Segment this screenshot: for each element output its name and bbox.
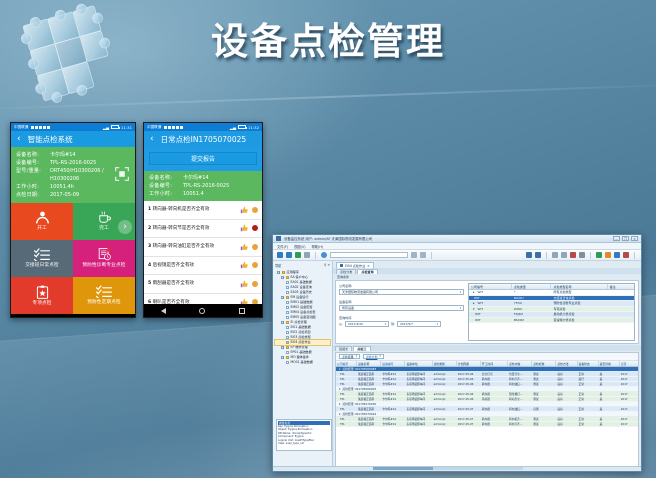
table-row[interactable]: WIT BSXDX 变速箱大修点检 xyxy=(469,318,634,324)
device-select[interactable]: 所有设备▾ xyxy=(339,305,464,311)
query-panel: 公司名称: 天津国际物流发展有限公司▾ 设备名称: 所有设备▾ 查询时间 从: … xyxy=(335,280,639,344)
table-row[interactable]: TPL集装箱正面吊卡尔玛#14东货场装卸车间admin/pl2017-05-07… xyxy=(336,422,638,427)
expand-toggle-icon[interactable]: − xyxy=(277,271,280,274)
column-header[interactable]: 公司编号 xyxy=(336,361,357,366)
tile-label: 预防性诊断专业点检 xyxy=(80,263,127,269)
checklist-text: 1 转向器-转向机是否齐全有效 xyxy=(148,206,240,213)
folder-icon xyxy=(282,271,286,274)
tile-preventive-diagnosis-inspection[interactable]: 预防性诊断专业点检 xyxy=(73,240,135,277)
doc-icon xyxy=(286,301,289,304)
thumbs-up-icon[interactable] xyxy=(240,261,248,269)
nav-back-icon[interactable] xyxy=(29,318,34,319)
tab-team-leader[interactable]: 班组长 xyxy=(335,346,352,352)
doc-icon xyxy=(286,351,289,354)
folder-icon xyxy=(286,276,290,279)
phone-screenshot-1: 中国联通 ▂▄ 11:31 ‹ 智能点检系统 设备名称: 卡尔玛#14 设备编号… xyxy=(10,122,136,318)
qr-scan-icon[interactable] xyxy=(115,167,129,181)
column-header[interactable]: 公司编号 xyxy=(469,284,512,289)
folder-icon xyxy=(286,346,290,349)
battery-icon xyxy=(111,125,119,129)
column-header[interactable]: 点检类别 xyxy=(433,361,457,366)
section-label: 查询条件 xyxy=(333,274,641,279)
tree-pin-icon[interactable]: ⚲ ✕ xyxy=(324,263,330,268)
tab-inspector[interactable]: 点检工 xyxy=(353,346,370,352)
coffee-cup-icon xyxy=(97,211,112,224)
expand-toggle-icon[interactable]: − xyxy=(281,296,284,299)
column-header[interactable]: 设备单位 xyxy=(405,361,432,366)
group-label: 点检结果: IN1705070030 xyxy=(342,402,376,406)
phone2-checklist: 1 转向器-转向机是否齐全有效 2 转向器-转向节是否齐全有效 3 转向器-转向… xyxy=(144,201,262,318)
results-panel: 点检结果▾ 点检计划▾ 公司编号 设备名称 设备编号 设备单位 点检类别 计划周… xyxy=(335,352,639,472)
column-header[interactable]: 是否异常 xyxy=(599,361,620,366)
info-label: 点检日期: xyxy=(16,191,50,199)
date-from-input[interactable]: 2017/4/30▾ xyxy=(345,321,389,327)
phone2-app-title: 日常点检IN1705070025 xyxy=(161,134,247,145)
date-to-value: 2017/5/7 xyxy=(400,322,413,326)
column-header[interactable]: 点检标准 xyxy=(532,361,556,366)
nav-recents-icon[interactable] xyxy=(111,318,117,319)
nav-recents-icon[interactable] xyxy=(239,308,245,314)
column-header[interactable]: 设备名称 xyxy=(357,361,381,366)
settings-icon[interactable] xyxy=(605,252,611,258)
field-group-date: 查询时间 从: 2017/4/30▾ 到: 2017/5/7▾ xyxy=(339,315,464,327)
phone2-app-bar: ‹ 日常点检IN1705070025 xyxy=(144,131,262,147)
phone1-nav-bar xyxy=(11,314,135,318)
search-icon[interactable] xyxy=(321,252,327,258)
expand-toggle-icon[interactable]: − xyxy=(281,276,284,279)
expand-toggle-icon[interactable]: − xyxy=(281,346,284,349)
group-label: 点检结果: IN1705070024 xyxy=(342,412,376,416)
checklist-text: 5 雨刮器是否齐全有效 xyxy=(148,280,240,287)
horizontal-scrollbar[interactable] xyxy=(373,467,523,470)
tile-finish-work[interactable]: 完工 › xyxy=(73,203,135,240)
phone2-device-info: 设备名称: 卡尔玛#14 设备编号: TPL-RS-2016-0025 工作小时… xyxy=(144,171,262,201)
thumbs-up-icon[interactable] xyxy=(240,243,248,251)
plan-filter-select[interactable]: 点检计划▾ xyxy=(363,354,384,360)
tile-start-work[interactable]: 开工 xyxy=(11,203,73,240)
copy-icon[interactable] xyxy=(552,252,558,258)
field-label: 设备名称: xyxy=(339,299,464,304)
query-form: 公司名称: 天津国际物流发展有限公司▾ 设备名称: 所有设备▾ 查询时间 从: … xyxy=(339,283,464,341)
tile-label: 预防性定期点检 xyxy=(85,300,123,306)
reload-icon[interactable] xyxy=(596,252,602,258)
info-row: 工作小时: 10051.4h xyxy=(16,183,130,191)
chevron-left-icon[interactable]: ‹ xyxy=(150,135,154,144)
tile-label: 交接班日常点检 xyxy=(23,263,61,269)
filter-row: 点检结果▾ 点检计划▾ xyxy=(336,353,638,361)
close-icon[interactable] xyxy=(623,252,629,258)
column-header[interactable]: 计划周期 xyxy=(457,361,481,366)
chevron-down-icon: ▾ xyxy=(379,355,380,358)
checklist-icon xyxy=(34,248,50,261)
thumbs-up-icon[interactable] xyxy=(240,206,248,214)
info-label: 设备编号: xyxy=(16,159,50,167)
doc-icon xyxy=(286,361,289,364)
clipboard-star-icon xyxy=(36,285,49,299)
info-value: 卡尔玛#14 xyxy=(50,151,130,159)
info-label: 工作小时: xyxy=(16,183,50,191)
inspection-results-grid[interactable]: 公司编号 设备名称 设备编号 设备单位 点检类别 计划周期 开工时间 点检内容 … xyxy=(336,361,638,472)
device-value: 所有设备 xyxy=(342,306,354,310)
info-label: 型号/重量: xyxy=(16,167,50,175)
window-title-bar: 设备监控系统 用户: admin/AF 天津国际物流发展有限公司 — ❐ ✕ xyxy=(273,235,641,243)
menu-file[interactable]: 文件(F) xyxy=(277,244,288,249)
info-row: 设备名称: 卡尔玛#14 xyxy=(149,174,257,182)
date-from-label: 从: xyxy=(339,322,343,326)
info-label: 设备名称: xyxy=(16,151,50,159)
search-input[interactable] xyxy=(330,252,408,258)
phone1-carrier: 中国联通 xyxy=(14,125,28,130)
date-to-label: 到: xyxy=(391,322,395,326)
info-value: TPL-RS-2016-0025 xyxy=(183,182,257,190)
submit-report-button[interactable]: 提交报告 xyxy=(149,152,257,165)
field-group-company: 公司名称: 天津国际物流发展有限公司▾ xyxy=(339,283,464,295)
app-icon xyxy=(276,236,281,241)
phone-screenshot-2: 中国联通 ▂▄ 11:32 ‹ 日常点检IN1705070025 提交报告 设备… xyxy=(143,122,263,318)
list-item[interactable]: 1 转向器-转向机是否齐全有效 xyxy=(144,201,262,220)
nav-home-icon[interactable] xyxy=(199,308,205,314)
phone2-time: 11:32 xyxy=(248,125,259,130)
inspection-type-grid[interactable]: 公司编号 点检类型 点检类型名称 备注 ▸WIT * 所有点检类型 WIT RI… xyxy=(468,283,635,341)
checklist-text: 7 倒车蜂鸣器是否齐全有效 xyxy=(148,317,240,318)
checklist-text: 4 后视镜是否齐全有效 xyxy=(148,262,240,269)
folder-icon xyxy=(286,356,290,359)
grid-icon[interactable] xyxy=(614,252,620,258)
filter-icon[interactable] xyxy=(411,252,417,258)
thumbs-up-icon[interactable] xyxy=(240,224,248,232)
nav-back-icon[interactable] xyxy=(161,308,166,314)
list-item[interactable]: 5 雨刮器是否齐全有效 xyxy=(144,275,262,294)
back-icon[interactable] xyxy=(277,252,283,258)
chevron-down-icon: ▾ xyxy=(460,307,461,310)
checklist-text: 2 转向器-转向节是否齐全有效 xyxy=(148,225,240,232)
info-value: 卡尔玛#14 xyxy=(183,174,257,182)
menu-bar: 文件(F) 视图(V) 帮助(H) xyxy=(273,243,641,250)
info-label: 设备名称: xyxy=(149,174,183,182)
doc-icon xyxy=(286,336,289,339)
refresh-icon[interactable] xyxy=(295,252,301,258)
folder-icon xyxy=(286,296,290,299)
navigation-tree[interactable]: 导航 ⚲ ✕ −应用程序 −EA 客户中心 EA01 基础数据 EA02 设备查… xyxy=(273,261,333,472)
info-value: TPL-RS-2016-0025 xyxy=(50,159,130,167)
chevron-down-icon: ▾ xyxy=(356,355,357,358)
signal-icon: ▂▄ xyxy=(230,125,236,130)
doc-icon xyxy=(286,291,289,294)
export-icon[interactable] xyxy=(535,252,541,258)
save-icon[interactable] xyxy=(304,252,310,258)
date-from-value: 2017/4/30 xyxy=(348,322,363,326)
doc-icon xyxy=(286,341,289,344)
doc-icon xyxy=(286,286,289,289)
tile-special-inspection[interactable]: 专项点检 xyxy=(11,277,73,314)
phone1-app-title: 智能点检系统 xyxy=(28,134,73,145)
forward-icon[interactable] xyxy=(286,252,292,258)
person-icon xyxy=(35,211,50,224)
phone1-device-info: 设备名称: 卡尔玛#14 设备编号: TPL-RS-2016-0025 型号/重… xyxy=(11,147,135,203)
property-line: View: inspl_type_ref xyxy=(278,442,330,445)
info-value: 10051.4 xyxy=(183,190,257,198)
filter-value: 点检结果 xyxy=(342,355,354,359)
field-label: 查询时间 xyxy=(339,315,464,320)
page-title: 设备点检管理 xyxy=(0,22,656,63)
group-label: 点检结果: IN1705060003 xyxy=(342,387,376,391)
close-button[interactable]: ✕ xyxy=(631,236,638,241)
info-value: 10051.4h xyxy=(50,183,130,191)
phone2-carrier: 中国联通 xyxy=(147,125,161,130)
column-header[interactable]: 点检内容 xyxy=(508,361,532,366)
info-row: 点检日期: 2017-05-09 xyxy=(16,191,130,199)
company-select[interactable]: 天津国际物流发展有限公司▾ xyxy=(339,289,464,295)
group-label: 点检结果: IN1705060083 xyxy=(342,367,376,371)
info-row: H10300206 xyxy=(16,175,130,183)
column-header[interactable]: 点检方法 xyxy=(556,361,577,366)
status-icon[interactable] xyxy=(252,207,258,213)
phone1-tile-grid: 开工 完工 › 交接班日常点检 xyxy=(11,203,135,314)
field-label: 公司名称: xyxy=(339,283,464,288)
filter-link[interactable]: 点检计划 xyxy=(366,355,378,359)
chevron-down-icon: ▾ xyxy=(437,323,438,326)
info-value: 2017-05-09 xyxy=(50,191,130,199)
folder-icon xyxy=(286,321,290,324)
column-header[interactable]: 设备编号 xyxy=(381,361,405,366)
tab-strip: EI04 点检作业 ✕ xyxy=(333,261,641,268)
info-row: 工作小时: 10051.4 xyxy=(149,190,257,198)
column-header[interactable]: 点检类型名称 xyxy=(551,284,607,289)
minimize-button[interactable]: — xyxy=(613,236,620,241)
status-icon[interactable] xyxy=(252,262,258,268)
window-body: 导航 ⚲ ✕ −应用程序 −EA 客户中心 EA01 基础数据 EA02 设备查… xyxy=(273,261,641,472)
list-item[interactable]: 3 转向器-转向油缸是否齐全有效 xyxy=(144,238,262,257)
result-filter-select[interactable]: 点检结果▾ xyxy=(339,354,360,360)
checklist-icon xyxy=(96,285,112,298)
tree-node-label: MO01 基础数据 xyxy=(291,360,313,365)
info-row: 设备编号: TPL-RS-2016-0025 xyxy=(149,182,257,190)
phone1-time: 11:31 xyxy=(121,125,132,130)
doc-icon xyxy=(286,326,289,329)
window-title: 设备监控系统 用户: admin/AF 天津国际物流发展有限公司 xyxy=(284,236,372,241)
tree-node[interactable]: MO01 基础数据 xyxy=(275,360,330,365)
tile-label: 完工 xyxy=(97,226,111,232)
info-label: 设备编号: xyxy=(149,182,183,190)
battery-icon xyxy=(238,125,246,129)
window-icon xyxy=(340,264,343,267)
list-item[interactable]: 4 后视镜是否齐全有效 xyxy=(144,257,262,276)
tree-header: 导航 ⚲ ✕ xyxy=(275,263,330,268)
column-header[interactable]: 设备状态 xyxy=(578,361,599,366)
expand-toggle-icon[interactable]: − xyxy=(281,321,284,324)
doc-icon xyxy=(286,316,289,319)
tile-label: 专项点检 xyxy=(30,301,53,307)
doc-icon xyxy=(286,311,289,314)
result-tab-strip: 班组长 点检工 xyxy=(333,345,641,351)
chevron-right-icon[interactable]: › xyxy=(118,220,132,234)
signal-icon: ▂▄ xyxy=(103,125,109,130)
doc-icon xyxy=(286,331,289,334)
chevron-left-icon[interactable]: ‹ xyxy=(17,135,21,144)
chevron-down-icon: ▾ xyxy=(460,291,461,294)
company-value: 天津国际物流发展有限公司 xyxy=(342,290,378,294)
chevron-down-icon: ▾ xyxy=(385,323,386,326)
content-pane: EI04 点检作业 ✕ 点检分类 点检查单 查询条件 公司名称: 天津国际物流发… xyxy=(333,261,641,472)
phone1-status-bar: 中国联通 ▂▄ 11:31 xyxy=(11,123,135,131)
phone2-status-bar: 中国联通 ▂▄ 11:32 xyxy=(144,123,262,131)
tile-label: 开工 xyxy=(35,226,49,232)
info-row: 设备名称: 卡尔玛#14 xyxy=(16,151,130,159)
tile-shift-daily-inspection[interactable]: 交接班日常点检 xyxy=(11,240,73,277)
sort-icon[interactable] xyxy=(420,252,426,258)
tile-preventive-periodic-inspection[interactable]: 预防性定期点检 xyxy=(73,277,135,314)
list-item[interactable]: 2 转向器-转向节是否齐全有效 xyxy=(144,220,262,239)
menu-view[interactable]: 视图(V) xyxy=(294,244,305,249)
thumbs-up-icon[interactable] xyxy=(240,280,248,288)
menu-help[interactable]: 帮助(H) xyxy=(312,244,324,249)
column-header[interactable]: 备注 xyxy=(608,284,634,289)
checklist-text: 3 转向器-转向油缸是否齐全有效 xyxy=(148,243,240,250)
info-label: 工作小时: xyxy=(149,190,183,198)
column-header[interactable]: 记录 xyxy=(620,361,638,366)
paste-icon[interactable] xyxy=(561,252,567,258)
edit-icon[interactable] xyxy=(579,252,585,258)
nav-home-icon[interactable] xyxy=(69,318,75,319)
info-row: 型号/重量: DRT450/H10300206 / xyxy=(16,167,130,175)
field-group-device: 设备名称: 所有设备▾ xyxy=(339,299,464,311)
tree-header-label: 导航 xyxy=(275,263,281,268)
print-icon[interactable] xyxy=(526,252,532,258)
phone1-app-bar: ‹ 智能点检系统 xyxy=(11,131,135,147)
delete-icon[interactable] xyxy=(570,252,576,258)
doc-icon xyxy=(286,281,289,284)
status-icon[interactable] xyxy=(252,244,258,250)
status-icon[interactable] xyxy=(252,281,258,287)
status-icon[interactable] xyxy=(252,225,258,231)
properties-panel: 属性信息 Key: Eygine.ItmIosption Object: Eyg… xyxy=(276,419,332,451)
close-icon[interactable]: ✕ xyxy=(367,264,370,268)
document-clock-icon xyxy=(97,248,112,261)
expand-toggle-icon[interactable]: − xyxy=(281,356,284,359)
toolbar xyxy=(273,250,641,261)
doc-icon xyxy=(286,306,289,309)
info-row: 设备编号: TPL-RS-2016-0025 xyxy=(16,159,130,167)
column-header[interactable]: 开工时间 xyxy=(481,361,508,366)
phone2-nav-bar xyxy=(144,304,262,317)
info-label xyxy=(16,175,50,183)
desktop-screenshot: 设备监控系统 用户: admin/AF 天津国际物流发展有限公司 — ❐ ✕ 文… xyxy=(272,234,642,472)
column-header[interactable]: 点检类型 xyxy=(512,284,552,289)
maximize-button[interactable]: ❐ xyxy=(622,236,629,241)
date-to-input[interactable]: 2017/5/7▾ xyxy=(397,321,441,327)
